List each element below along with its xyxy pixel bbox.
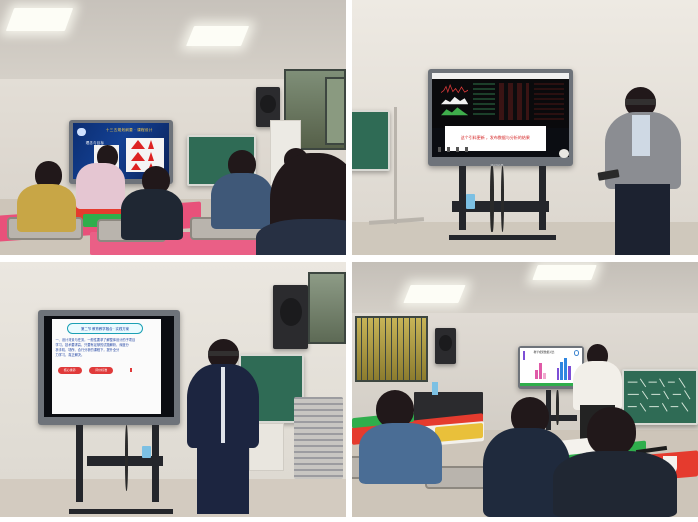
ceiling — [352, 262, 698, 318]
area-chart-green-icon — [441, 106, 468, 115]
window — [308, 272, 346, 343]
display-stand-post — [459, 166, 466, 230]
stacked-chairs — [294, 397, 342, 479]
slide-chart-title: 教学成果数据对比 — [534, 350, 555, 354]
speaker-icon — [435, 328, 456, 364]
display-stand-base — [449, 235, 556, 240]
photo-panel-top-left[interactable]: 十三五规划纲要 · 课程设计 理念与目标 — [0, 0, 346, 255]
ceiling-light — [186, 26, 250, 46]
pyramid-icon — [131, 163, 141, 170]
presenter-shirt — [632, 115, 649, 156]
person-body-attendee — [121, 189, 183, 240]
slide-marker-dot — [130, 368, 133, 372]
slide-logo-icon — [77, 128, 86, 137]
presenter-trousers — [197, 443, 249, 514]
photo-collage: 十三五规划纲要 · 课程设计 理念与目标 — [0, 0, 698, 522]
bar — [564, 358, 567, 380]
ceiling-light — [404, 285, 467, 303]
bar — [560, 362, 563, 380]
display-screen: 第二节 教育教学融合 · 实践方案 一、设计背景与任务，一般性要求了解整体设计的… — [44, 316, 175, 417]
floor — [0, 479, 346, 517]
pyramid-icon — [148, 152, 154, 161]
display-stand-post — [539, 166, 546, 230]
greenboard — [352, 110, 390, 171]
slide-body: 一、设计背景与任务，一般性要求了解整体设计的子项目 学习，技术要求高，只要有足够… — [55, 338, 157, 358]
tracksuit-zip-stripe — [221, 367, 224, 444]
bar — [568, 366, 571, 380]
dashboard-side-table — [534, 83, 564, 120]
person-body-attendee — [17, 184, 76, 232]
slide-body-line: 力学习，真正解决。 — [55, 353, 157, 358]
bar-chart-left — [534, 359, 548, 379]
glasses-icon — [625, 99, 656, 104]
slide-subtitle: 理念与目标 — [86, 140, 104, 145]
slide-left-bar-accent — [523, 351, 525, 361]
display-stand-post — [76, 425, 83, 502]
cable — [501, 166, 504, 232]
cable — [556, 390, 559, 426]
dashboard-thumbnail-grid — [499, 83, 529, 120]
pyramid-icon — [148, 140, 154, 149]
toolbar-dots-icon[interactable] — [438, 147, 474, 152]
person-head-attendee — [587, 407, 635, 455]
ceiling-light — [6, 8, 73, 31]
water-bottle — [142, 446, 151, 459]
photo-panel-top-right[interactable]: 这个引料更新 ，发布数据与分析的结果 MAXHUB — [352, 0, 698, 255]
photo-panel-bottom-right[interactable]: 教学成果数据对比 — [352, 262, 698, 517]
waveform-chart-icon — [441, 84, 468, 94]
bar-chart-right — [556, 357, 572, 381]
interactive-display[interactable]: 第二节 教育教学融合 · 实践方案 一、设计背景与任务，一般性要求了解整体设计的… — [38, 310, 180, 425]
cable — [490, 166, 493, 232]
slide-highlight-pill: 核心素养 — [58, 367, 81, 374]
water-bottle — [432, 382, 439, 395]
ceiling-light — [533, 265, 597, 280]
bar — [539, 363, 542, 378]
slide-highlight-text: 评价标准 — [95, 368, 107, 372]
window — [325, 77, 346, 146]
pyramid-icon — [131, 152, 145, 161]
slide-title: 第二节 教育教学融合 · 实践方案 — [81, 326, 129, 331]
bar — [557, 368, 560, 380]
slide-highlight-text: 核心素养 — [64, 368, 76, 372]
person-body-attendee — [359, 423, 442, 484]
photo-panel-bottom-left[interactable]: 第二节 教育教学融合 · 实践方案 一、设计背景与任务，一般性要求了解整体设计的… — [0, 262, 346, 517]
display-stand-base — [69, 509, 173, 514]
interactive-display[interactable]: 这个引料更新 ，发布数据与分析的结果 MAXHUB — [428, 69, 573, 166]
cable — [125, 425, 128, 491]
chalk-handwriting — [625, 374, 694, 415]
bar — [543, 373, 546, 379]
pyramid-icon — [131, 140, 145, 149]
slide-title: 十三五规划纲要 · 课程设计 — [106, 128, 153, 133]
presenter-trousers — [615, 184, 670, 255]
person-body-presenter — [76, 163, 124, 209]
area-chart-white-icon — [441, 95, 468, 104]
water-bottle — [466, 194, 475, 209]
bar — [535, 370, 538, 379]
slide-headline: 这个引料更新 ，发布数据与分析的结果 — [461, 135, 530, 141]
display-screen: 这个引料更新 ，发布数据与分析的结果 — [432, 73, 569, 157]
slide-highlight-pill: 评价标准 — [89, 367, 112, 374]
person-body-presenter — [573, 361, 621, 409]
camera-icon — [559, 149, 569, 158]
whiteboard-stand-leg — [394, 107, 397, 224]
person-body-foreground — [256, 219, 346, 255]
slide-logo-icon — [574, 350, 580, 356]
person-body-attendee — [553, 451, 678, 517]
dashboard-data-table — [473, 83, 495, 118]
person-body-attendee — [211, 173, 273, 229]
window-bars — [355, 316, 428, 382]
slide-title-pill: 第二节 教育教学融合 · 实践方案 — [67, 323, 143, 334]
glasses-icon — [208, 351, 239, 356]
speaker-icon — [273, 285, 308, 349]
